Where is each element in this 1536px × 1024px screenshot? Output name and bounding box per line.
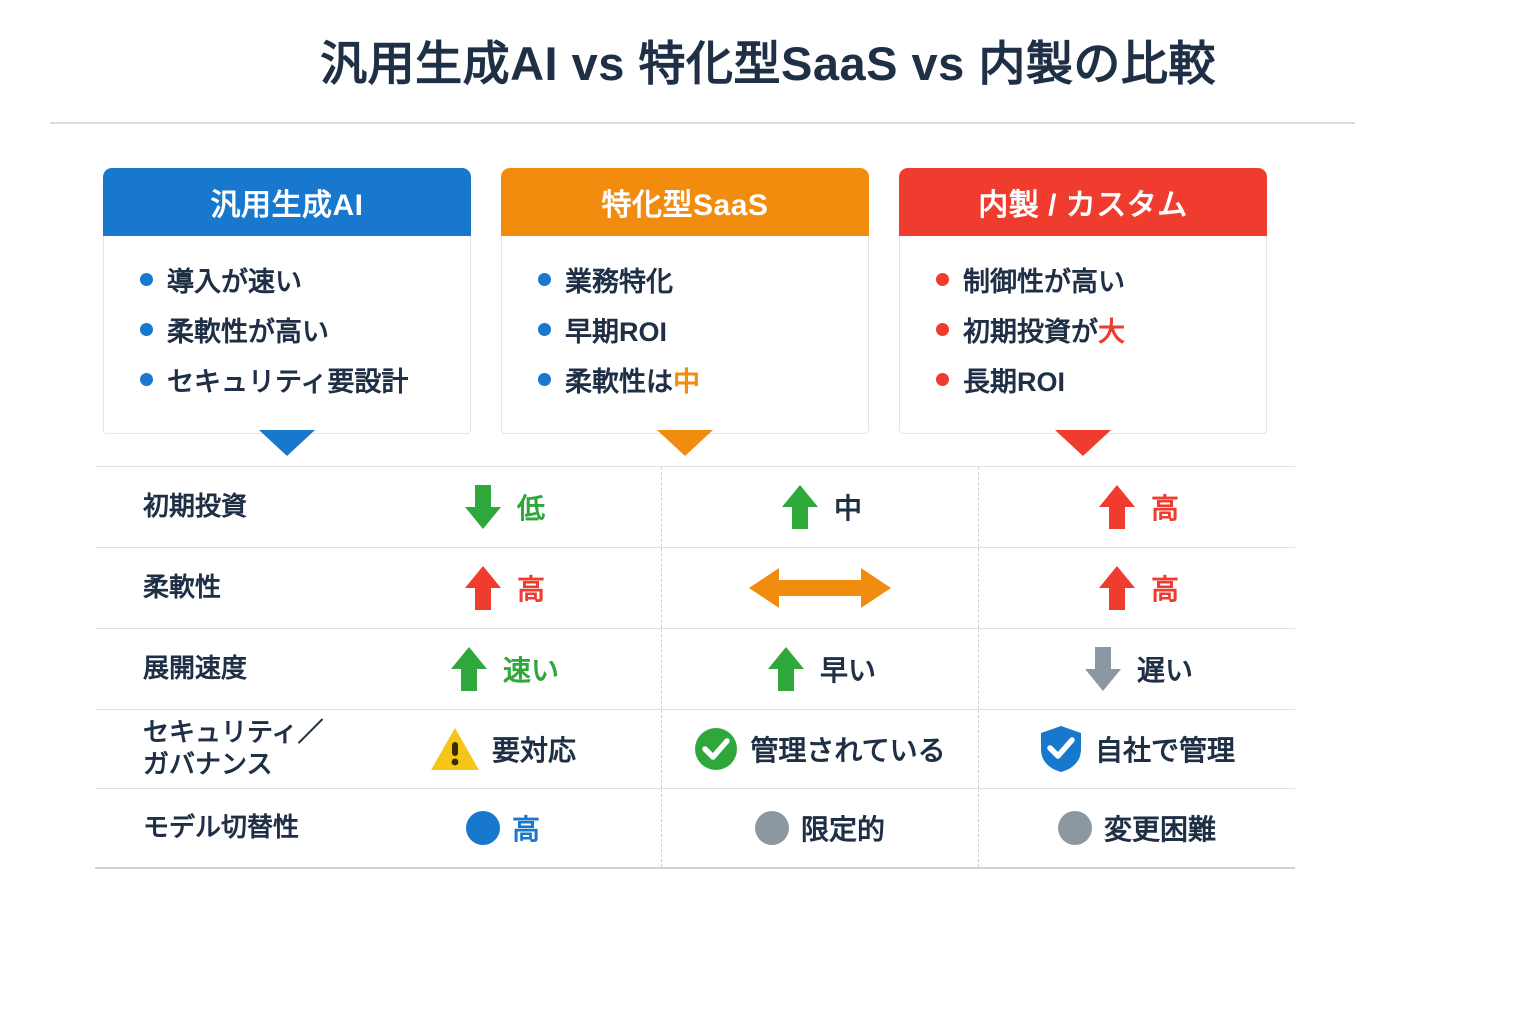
warning-triangle-yellow-icon (430, 726, 480, 772)
arrow-down-gray-icon (1081, 643, 1125, 695)
card-bullet-item: 導入が速い (104, 254, 470, 304)
arrow-left-right-orange-icon (745, 562, 895, 614)
matrix-cell-label: 変更困難 (1104, 808, 1216, 848)
card-bullet-label: 導入が速い (167, 260, 302, 299)
matrix-cell-label: 自社で管理 (1095, 729, 1235, 769)
bullet-dot-icon (140, 373, 153, 386)
arrow-up-green-icon (764, 643, 808, 695)
card-bullet-item: 柔軟性が高い (104, 304, 470, 354)
card-bullet-item: 制御性が高い (900, 254, 1266, 304)
bullet-dot-icon (936, 323, 949, 336)
matrix-cell-label: 低 (517, 487, 545, 527)
arrow-up-red-icon (1095, 562, 1139, 614)
matrix-cell: 中 (661, 467, 978, 547)
matrix-cell: 高 (978, 548, 1295, 628)
bullet-dot-icon (140, 273, 153, 286)
matrix-cell-label: 速い (503, 649, 559, 689)
matrix-cell: 高 (978, 467, 1295, 547)
arrow-up-red-icon (1095, 481, 1139, 533)
card-connector-triangle-icon (259, 430, 315, 456)
matrix-cell: 変更困難 (978, 789, 1295, 867)
arrow-up-red-icon (461, 562, 505, 614)
check-circle-green-icon (694, 727, 738, 771)
card-bullet-item: 長期ROI (900, 354, 1266, 404)
page-title: 汎用生成AI vs 特化型SaaS vs 内製の比較 (0, 0, 1536, 90)
card-bullet-label: セキュリティ要設計 (167, 360, 408, 399)
matrix-cell-label: 高 (512, 808, 540, 848)
arrow-down-green-icon (461, 481, 505, 533)
matrix-cell-label: 高 (517, 568, 545, 608)
matrix-cell: 早い (661, 629, 978, 709)
circle-blue-icon (466, 811, 500, 845)
card-bullet-item: 業務特化 (502, 254, 868, 304)
card-bullet-list: 制御性が高い初期投資が大長期ROI (899, 236, 1267, 434)
matrix-row-label: 柔軟性 (95, 548, 345, 628)
matrix-row: 展開速度速い早い遅い (95, 628, 1295, 709)
circle-gray-icon (1058, 811, 1092, 845)
matrix-row-label: 初期投資 (95, 467, 345, 547)
card-bullet-label: 早期ROI (565, 310, 667, 349)
matrix-cell: 管理されている (661, 710, 978, 788)
comparison-card: 汎用生成AI導入が速い柔軟性が高いセキュリティ要設計 (103, 168, 471, 434)
matrix-cell: 限定的 (661, 789, 978, 867)
arrow-up-green-icon (447, 643, 491, 695)
matrix-cell-label: 中 (834, 487, 862, 527)
bullet-dot-icon (538, 323, 551, 336)
bullet-dot-icon (538, 273, 551, 286)
matrix-row: セキュリティ／ガバナンス要対応管理されている自社で管理 (95, 709, 1295, 788)
matrix-row: 柔軟性高高 (95, 547, 1295, 628)
bullet-highlight: 大 (1098, 317, 1125, 347)
card-bullet-label: 柔軟性は中 (565, 360, 700, 399)
title-block: 汎用生成AI vs 特化型SaaS vs 内製の比較 (0, 0, 1536, 90)
matrix-cell-label: 要対応 (492, 729, 576, 769)
card-header: 汎用生成AI (103, 168, 471, 236)
circle-gray-icon (755, 811, 789, 845)
bullet-highlight: 中 (673, 367, 700, 397)
matrix-row-label: セキュリティ／ガバナンス (95, 710, 345, 788)
matrix-cell-label: 高 (1151, 487, 1179, 527)
title-divider (50, 122, 1355, 124)
card-bullet-list: 業務特化早期ROI柔軟性は中 (501, 236, 869, 434)
matrix-cell-label: 遅い (1137, 649, 1193, 689)
card-bullet-label: 制御性が高い (963, 260, 1125, 299)
comparison-matrix: 初期投資低中高柔軟性高高展開速度速い早い遅いセキュリティ／ガバナンス要対応管理さ… (95, 466, 1295, 869)
comparison-card: 内製 / カスタム制御性が高い初期投資が大長期ROI (899, 168, 1267, 434)
bullet-dot-icon (140, 323, 153, 336)
card-connector-triangle-icon (1055, 430, 1111, 456)
card-connector-triangle-icon (657, 430, 713, 456)
bullet-dot-icon (936, 273, 949, 286)
card-bullet-list: 導入が速い柔軟性が高いセキュリティ要設計 (103, 236, 471, 434)
matrix-cell: 高 (345, 548, 661, 628)
card-bullet-label: 初期投資が大 (963, 310, 1125, 349)
card-header: 特化型SaaS (501, 168, 869, 236)
card-bullet-item: 柔軟性は中 (502, 354, 868, 404)
matrix-cell-label: 早い (820, 649, 876, 689)
shield-check-blue-icon (1039, 725, 1083, 773)
card-header: 内製 / カスタム (899, 168, 1267, 236)
card-bullet-item: 早期ROI (502, 304, 868, 354)
card-bullet-item: 初期投資が大 (900, 304, 1266, 354)
matrix-cell-label: 高 (1151, 568, 1179, 608)
matrix-row: 初期投資低中高 (95, 466, 1295, 547)
comparison-cards: 汎用生成AI導入が速い柔軟性が高いセキュリティ要設計特化型SaaS業務特化早期R… (103, 168, 1288, 434)
comparison-card: 特化型SaaS業務特化早期ROI柔軟性は中 (501, 168, 869, 434)
matrix-cell (661, 548, 978, 628)
matrix-row-label: モデル切替性 (95, 789, 345, 867)
matrix-cell: 自社で管理 (978, 710, 1295, 788)
matrix-cell: 速い (345, 629, 661, 709)
bullet-dot-icon (936, 373, 949, 386)
matrix-cell: 遅い (978, 629, 1295, 709)
card-bullet-item: セキュリティ要設計 (104, 354, 470, 404)
matrix-row-label: 展開速度 (95, 629, 345, 709)
matrix-cell: 低 (345, 467, 661, 547)
matrix-cell: 要対応 (345, 710, 661, 788)
bullet-dot-icon (538, 373, 551, 386)
matrix-row: モデル切替性高限定的変更困難 (95, 788, 1295, 869)
matrix-cell: 高 (345, 789, 661, 867)
card-bullet-label: 長期ROI (963, 360, 1065, 399)
card-bullet-label: 業務特化 (565, 260, 673, 299)
card-bullet-label: 柔軟性が高い (167, 310, 329, 349)
arrow-up-green-icon (778, 481, 822, 533)
matrix-cell-label: 限定的 (801, 808, 885, 848)
matrix-cell-label: 管理されている (750, 729, 945, 769)
